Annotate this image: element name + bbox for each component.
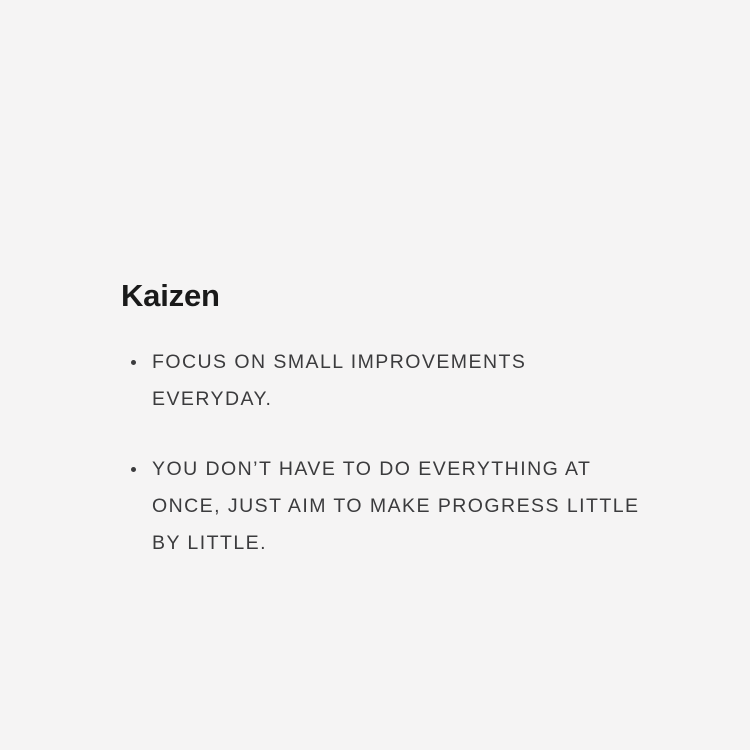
quote-card: Kaizen Focus on small improvements every…: [0, 0, 750, 750]
bullet-list: Focus on small improvements everyday. Yo…: [121, 344, 661, 562]
list-item-label: You don’t have to do everything at once,…: [152, 451, 652, 562]
page-title: Kaizen: [121, 278, 661, 314]
list-item: You don’t have to do everything at once,…: [121, 451, 661, 562]
content-block: Kaizen Focus on small improvements every…: [121, 278, 661, 562]
bullet-dot-icon: [131, 360, 136, 365]
list-item-label: Focus on small improvements everyday.: [152, 344, 652, 418]
bullet-dot-icon: [131, 467, 136, 472]
list-item: Focus on small improvements everyday.: [121, 344, 661, 418]
